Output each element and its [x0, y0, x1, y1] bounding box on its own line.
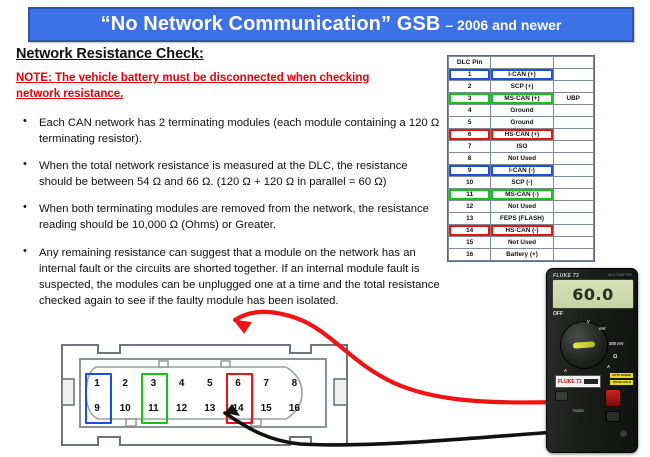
- content-column: Network Resistance Check: NOTE: The vehi…: [16, 46, 441, 320]
- multimeter-logo-plate: FLUKE 73: [555, 375, 601, 388]
- multimeter-logo-text: FLUKE 73: [558, 379, 582, 385]
- dlc-pin-signal: Not Used: [491, 153, 553, 165]
- dlc-pin-signal: Not Used: [491, 237, 553, 249]
- dlc-pin-extra: [553, 165, 593, 177]
- multimeter-fuse-label: FUSED: [573, 409, 584, 413]
- table-row: 13FEPS (FLASH): [449, 213, 594, 225]
- dlc-pin-number-highlighted-green: 3: [449, 93, 491, 105]
- table-header-row: DLC Pin: [449, 57, 594, 69]
- dlc-pin-number: 8: [449, 153, 491, 165]
- multimeter-reading-value: 60.0: [572, 285, 613, 304]
- warning-note: NOTE: The vehicle battery must be discon…: [16, 71, 416, 103]
- table-row: 11MS-CAN (-): [449, 189, 594, 201]
- dlc-pin-signal-highlighted-red: HS-CAN (+): [491, 129, 553, 141]
- dlc-pin-extra: [553, 153, 593, 165]
- dlc-pin-extra: [553, 189, 593, 201]
- connector-pin-5: 5: [201, 378, 219, 389]
- dial-mark-ohm: Ω: [613, 354, 617, 360]
- table-row: 4Ground: [449, 105, 594, 117]
- dlc-pin-extra: [553, 237, 593, 249]
- dlc-pin-number-highlighted-red: 6: [449, 129, 491, 141]
- table-row: 6HS-CAN (+): [449, 129, 594, 141]
- table-row: 2SCP (+): [449, 81, 594, 93]
- list-item: • When the total network resistance is m…: [16, 158, 441, 190]
- dlc-pin-number: 12: [449, 201, 491, 213]
- dlc-pin-signal: FEPS (FLASH): [491, 213, 553, 225]
- dial-mark-amp-dc: A: [607, 364, 610, 369]
- list-item-text: Any remaining resistance can suggest tha…: [39, 247, 440, 307]
- dlc-pin-table-inner: DLC Pin1I-CAN (+)2SCP (+)3MS-CAN (+)UBP4…: [448, 56, 594, 261]
- connector-pin-13: 13: [201, 403, 219, 414]
- multimeter-sticker-touchhold: TOUCH HOLD: [610, 380, 633, 385]
- dlc-pin-number-highlighted-blue: 1: [449, 69, 491, 81]
- multimeter-logo-bar: [584, 379, 598, 384]
- dlc-pin-number: 5: [449, 117, 491, 129]
- multimeter-lcd-display: 60.0: [552, 279, 634, 309]
- table-header-cell: DLC Pin: [449, 57, 491, 69]
- dlc-pin-extra: [553, 225, 593, 237]
- dlc-pin-grid: 12345678910111213141516: [58, 341, 350, 449]
- multimeter-amp-jack[interactable]: [606, 411, 620, 422]
- list-item-text: Each CAN network has 2 terminating modul…: [39, 117, 439, 145]
- multimeter-model-subtext: MULTIMETER: [608, 273, 632, 277]
- dlc-pin-number: 10: [449, 177, 491, 189]
- dlc-pin-signal: SCP (-): [491, 177, 553, 189]
- connector-pin-15: 15: [257, 403, 275, 414]
- dlc-pin-signal: Battery (+): [491, 249, 553, 261]
- table-row: 7ISO: [449, 141, 594, 153]
- connector-pin-10: 10: [116, 403, 134, 414]
- dlc-pin-extra: [553, 117, 593, 129]
- list-item-text: When both terminating modules are remove…: [39, 203, 429, 231]
- dlc-pin-signal: Ground: [491, 105, 553, 117]
- multimeter-lower-jack[interactable]: [619, 429, 628, 438]
- connector-pin-7: 7: [257, 378, 275, 389]
- dlc-pin-table: DLC Pin1I-CAN (+)2SCP (+)3MS-CAN (+)UBP4…: [447, 55, 595, 262]
- table-row: 1I-CAN (+): [449, 69, 594, 81]
- connector-pin-highlight-3-11: [141, 373, 168, 424]
- list-item: • Each CAN network has 2 terminating mod…: [16, 115, 441, 147]
- list-item-text: When the total network resistance is mea…: [39, 160, 408, 188]
- slide-title-banner: “No Network Communication” GSB – 2006 an…: [28, 7, 634, 42]
- dlc-pin-extra: [553, 177, 593, 189]
- table-row: 10SCP (-): [449, 177, 594, 189]
- red-lead-arrowhead: [235, 320, 252, 334]
- table-header-cell: [553, 57, 593, 69]
- dlc-pin-number-highlighted-green: 11: [449, 189, 491, 201]
- dial-mark-range: 300 mV: [609, 341, 624, 346]
- multimeter-off-label: OFF: [553, 311, 563, 317]
- multimeter-sticker-autorange: AUTO RANGE: [610, 373, 633, 378]
- dial-mark-mv: mV: [599, 326, 606, 331]
- dlc-pin-signal-highlighted-red: HS-CAN (-): [491, 225, 553, 237]
- dlc-pin-number: 13: [449, 213, 491, 225]
- connector-pin-12: 12: [173, 403, 191, 414]
- dlc-pin-signal-highlighted-blue: I-CAN (+): [491, 69, 553, 81]
- dlc-pin-extra: [553, 141, 593, 153]
- list-item: • When both terminating modules are remo…: [16, 201, 441, 233]
- table-row: 14HS-CAN (-): [449, 225, 594, 237]
- dlc-connector-diagram: 12345678910111213141516: [58, 341, 350, 449]
- section-heading: Network Resistance Check:: [16, 46, 441, 62]
- multimeter: FLUKE 73 MULTIMETER 60.0 OFF V mV 300 mV…: [546, 268, 638, 453]
- dlc-pin-signal: SCP (+): [491, 81, 553, 93]
- table-row: 3MS-CAN (+)UBP: [449, 93, 594, 105]
- connector-pin-highlight-1-9: [85, 373, 112, 424]
- dlc-pin-extra: [553, 213, 593, 225]
- table-row: 16Battery (+): [449, 249, 594, 261]
- dlc-pin-number-highlighted-blue: 9: [449, 165, 491, 177]
- dlc-pin-number: 7: [449, 141, 491, 153]
- dlc-pin-signal-highlighted-green: MS-CAN (-): [491, 189, 553, 201]
- dlc-pin-number: 4: [449, 105, 491, 117]
- connector-pin-16: 16: [285, 403, 303, 414]
- red-lead-arrow-stem: [236, 321, 243, 330]
- bullet-dot-icon: •: [23, 200, 27, 216]
- table-header-cell: [491, 57, 553, 69]
- connector-pin-8: 8: [285, 378, 303, 389]
- table-row: 8Not Used: [449, 153, 594, 165]
- dlc-pin-signal: ISO: [491, 141, 553, 153]
- dlc-pin-signal: Ground: [491, 117, 553, 129]
- dlc-pin-signal: Not Used: [491, 201, 553, 213]
- dlc-pin-extra: [553, 129, 593, 141]
- dlc-pin-extra: [553, 105, 593, 117]
- dlc-pin-extra: UBP: [553, 93, 593, 105]
- dlc-pin-number: 2: [449, 81, 491, 93]
- dlc-pin-extra: [553, 201, 593, 213]
- slide-title-subtitle: – 2006 and newer: [445, 17, 561, 33]
- dial-mark-v: V: [587, 319, 590, 324]
- table-row: 12Not Used: [449, 201, 594, 213]
- table-row: 5Ground: [449, 117, 594, 129]
- bullet-list: • Each CAN network has 2 terminating mod…: [16, 115, 441, 309]
- table-row: 15Not Used: [449, 237, 594, 249]
- dial-mark-amp-ac: A: [564, 368, 567, 373]
- dlc-pin-number-highlighted-red: 14: [449, 225, 491, 237]
- multimeter-dial-pointer: [573, 341, 595, 349]
- slide-title-main: “No Network Communication” GSB: [101, 13, 441, 36]
- connector-pin-4: 4: [173, 378, 191, 389]
- bullet-dot-icon: •: [23, 114, 27, 130]
- bullet-dot-icon: •: [23, 157, 27, 173]
- dlc-pin-number: 16: [449, 249, 491, 261]
- connector-pin-2: 2: [116, 378, 134, 389]
- dlc-pin-signal-highlighted-blue: I-CAN (-): [491, 165, 553, 177]
- dlc-pin-extra: [553, 249, 593, 261]
- list-item: • Any remaining resistance can suggest t…: [16, 245, 441, 310]
- multimeter-voltohm-jack[interactable]: [605, 389, 621, 407]
- table-row: 9I-CAN (-): [449, 165, 594, 177]
- connector-pin-highlight-6-14: [226, 373, 253, 424]
- multimeter-com-jack[interactable]: [555, 391, 568, 401]
- dlc-pin-extra: [553, 69, 593, 81]
- dlc-pin-signal-highlighted-green: MS-CAN (+): [491, 93, 553, 105]
- dlc-pin-number: 15: [449, 237, 491, 249]
- dlc-pin-extra: [553, 81, 593, 93]
- bullet-dot-icon: •: [23, 244, 27, 260]
